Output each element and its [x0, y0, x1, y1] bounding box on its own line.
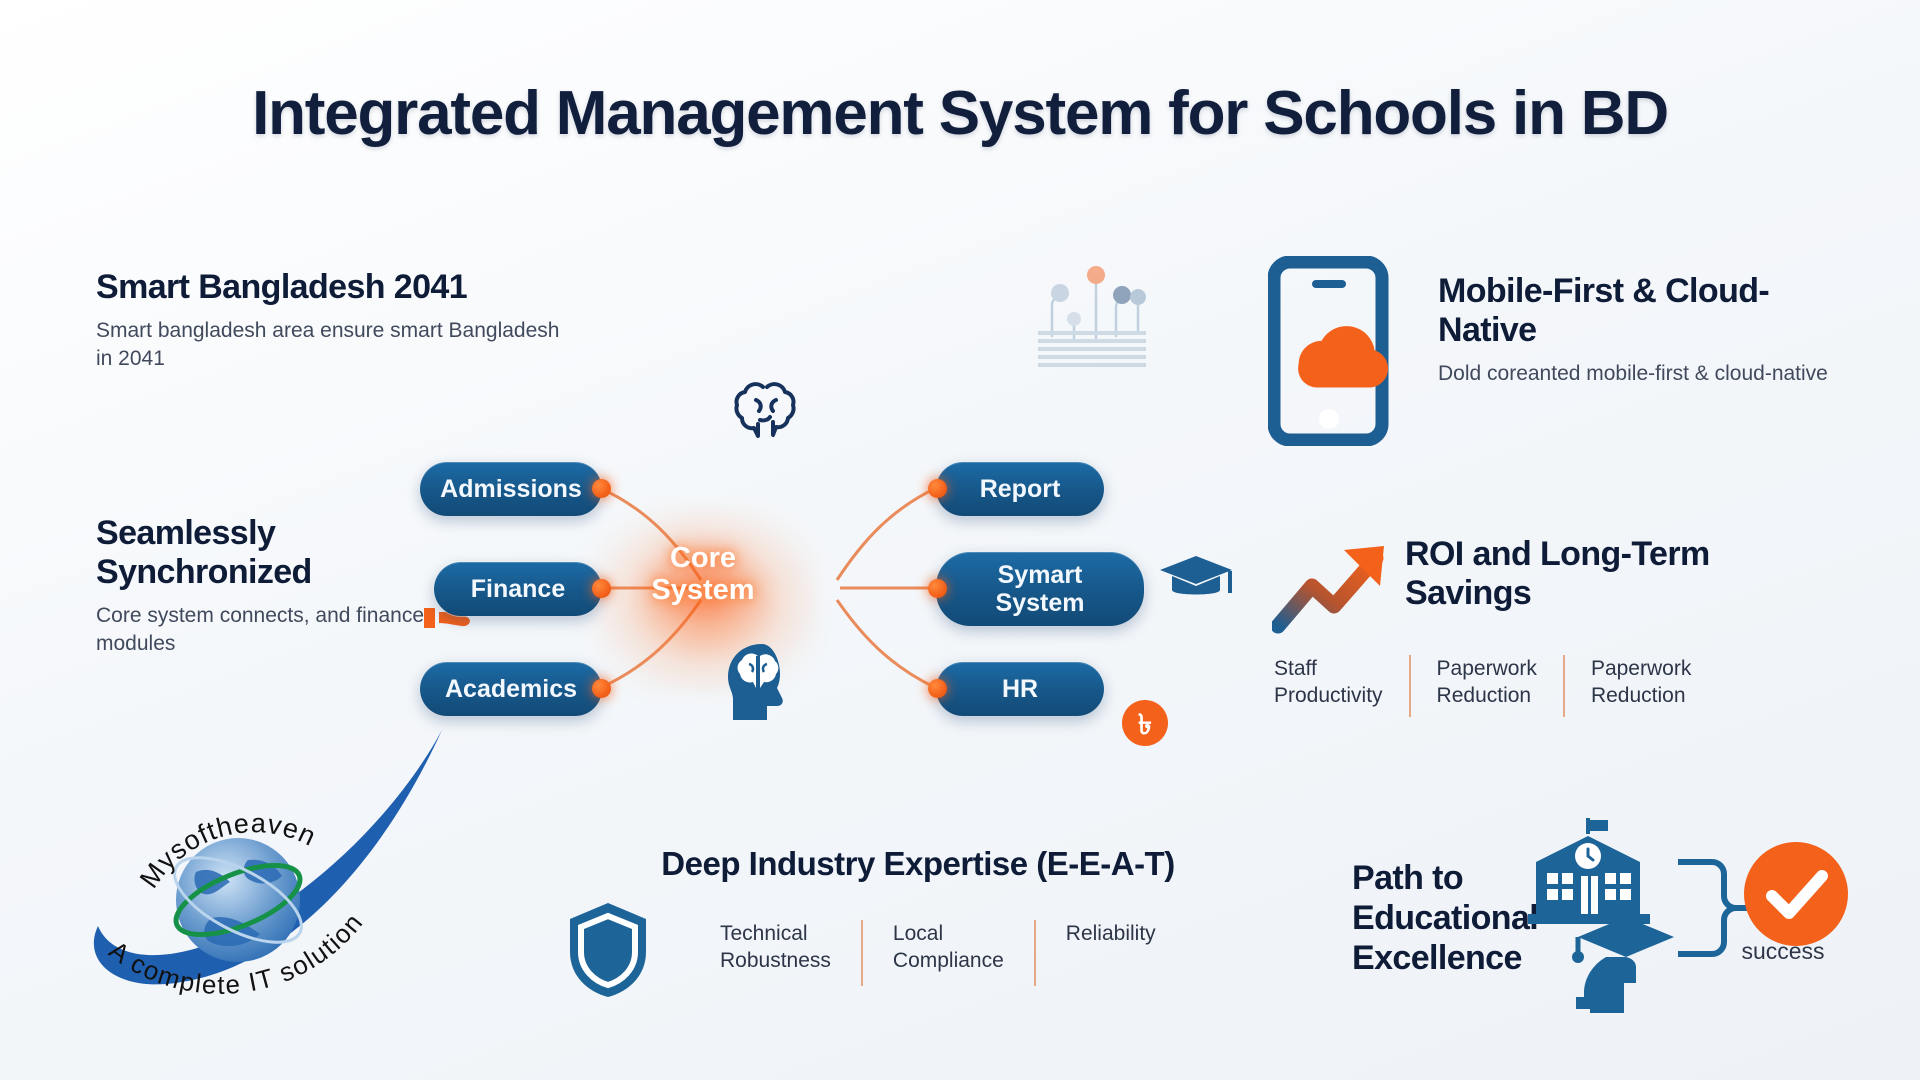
core-system-label: Core System — [608, 542, 798, 607]
diagram-node-academics[interactable]: Academics — [420, 662, 602, 716]
diagram-node-admissions[interactable]: Admissions — [420, 462, 602, 516]
mobile-heading: Mobile-First & Cloud-Native — [1438, 272, 1838, 350]
connector-dot — [592, 579, 611, 598]
section-deep-expertise: Deep Industry Expertise (E-E-A-T) — [588, 845, 1248, 883]
connector-dot — [592, 679, 611, 698]
section-roi: ROI and Long-Term Savings — [1405, 535, 1825, 613]
deep-expertise-heading: Deep Industry Expertise (E-E-A-T) — [588, 845, 1248, 883]
growth-arrow-icon — [1272, 540, 1397, 640]
circuit-network-icon — [1012, 245, 1172, 380]
shield-icon — [566, 900, 650, 1005]
section-mobile-first: Mobile-First & Cloud-Native Dold coreant… — [1438, 272, 1838, 388]
roi-stat: Paperwork Reduction — [1411, 655, 1563, 710]
roi-stat: Paperwork Reduction — [1565, 655, 1717, 710]
head-brain-icon — [722, 642, 796, 727]
diagram-node-report[interactable]: Report — [936, 462, 1104, 516]
section-seamlessly-synchronized: Seamlessly Synchronized Core system conn… — [96, 514, 426, 658]
seamless-heading: Seamlessly Synchronized — [96, 514, 426, 592]
deep-stat: Technical Robustness — [690, 920, 861, 975]
graduation-cap-icon — [1158, 552, 1234, 611]
connector-dot — [928, 579, 947, 598]
section-smart-bangladesh: Smart Bangladesh 2041 Smart bangladesh a… — [96, 268, 566, 373]
check-circle-icon — [1742, 840, 1850, 953]
brain-icon — [730, 378, 802, 451]
company-logo: Mysoftheaven A complete IT solution — [70, 712, 460, 1042]
success-label: success — [1718, 938, 1848, 965]
mobile-body: Dold coreanted mobile-first & cloud-nati… — [1438, 360, 1838, 388]
taka-coin-icon: ৳ — [1120, 698, 1170, 753]
deep-expertise-stats: Technical Robustness Local Compliance Re… — [690, 920, 1186, 986]
roi-stats: Staff Productivity Paperwork Reduction P… — [1274, 655, 1717, 717]
mobile-cloud-icon — [1268, 256, 1390, 451]
roi-heading: ROI and Long-Term Savings — [1405, 535, 1825, 613]
deep-stat: Reliability — [1036, 920, 1186, 947]
page-title: Integrated Management System for Schools… — [0, 78, 1920, 149]
connector-dot — [592, 479, 611, 498]
graduate-head-icon — [1570, 905, 1680, 1018]
core-system-diagram: Core System Admissions Finance Academics… — [420, 440, 1120, 760]
smart-bangladesh-body: Smart bangladesh area ensure smart Bangl… — [96, 317, 566, 374]
seamless-body: Core system connects, and finance module… — [96, 602, 426, 659]
connector-dot — [928, 679, 947, 698]
smart-bangladesh-heading: Smart Bangladesh 2041 — [96, 268, 566, 307]
svg-text:৳: ৳ — [1138, 709, 1152, 740]
connector-dot — [928, 479, 947, 498]
diagram-node-finance[interactable]: Finance — [434, 562, 602, 616]
diagram-node-symart-system[interactable]: Symart System — [936, 552, 1144, 626]
infographic-canvas: Integrated Management System for Schools… — [0, 0, 1920, 1080]
roi-stat: Staff Productivity — [1274, 655, 1409, 710]
diagram-node-hr[interactable]: HR — [936, 662, 1104, 716]
deep-stat: Local Compliance — [863, 920, 1034, 975]
